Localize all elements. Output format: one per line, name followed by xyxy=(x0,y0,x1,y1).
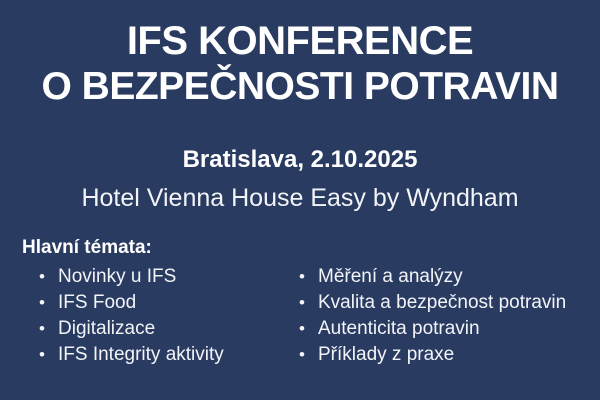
title-line-1: IFS KONFERENCE xyxy=(0,18,600,64)
topic-list-right: • Měření a analýzy • Kvalita a bezpečnos… xyxy=(292,264,582,368)
bullet-icon: • xyxy=(296,316,308,342)
event-venue: Hotel Vienna House Easy by Wyndham xyxy=(0,183,600,214)
topic-list-left: • Novinky u IFS • IFS Food • Digitalizac… xyxy=(32,264,292,368)
list-item: • Novinky u IFS xyxy=(32,264,292,290)
topics-columns: • Novinky u IFS • IFS Food • Digitalizac… xyxy=(22,264,582,368)
bullet-icon: • xyxy=(36,264,48,290)
list-item: • Měření a analýzy xyxy=(292,264,582,290)
list-item-label: Příklady z praxe xyxy=(318,344,454,365)
title-line-2: O BEZPEČNOSTI POTRAVIN xyxy=(0,64,600,110)
bullet-icon: • xyxy=(296,342,308,368)
event-date-location: Bratislava, 2.10.2025 xyxy=(0,145,600,175)
poster-subtitle: Bratislava, 2.10.2025 Hotel Vienna House… xyxy=(0,145,600,214)
list-item-label: Kvalita a bezpečnost potravin xyxy=(318,292,566,313)
bullet-icon: • xyxy=(296,290,308,316)
list-item: • Digitalizace xyxy=(32,316,292,342)
list-item-label: IFS Food xyxy=(58,292,136,313)
list-item-label: Autenticita potravin xyxy=(318,318,480,339)
list-item: • IFS Food xyxy=(32,290,292,316)
bullet-icon: • xyxy=(36,342,48,368)
topics-column-left: • Novinky u IFS • IFS Food • Digitalizac… xyxy=(22,264,292,368)
list-item: • Příklady z praxe xyxy=(292,342,582,368)
bullet-icon: • xyxy=(36,290,48,316)
conference-poster: IFS KONFERENCE O BEZPEČNOSTI POTRAVIN Br… xyxy=(0,0,600,400)
list-item-label: Měření a analýzy xyxy=(318,266,463,287)
poster-title: IFS KONFERENCE O BEZPEČNOSTI POTRAVIN xyxy=(0,18,600,110)
topics-heading: Hlavní témata: xyxy=(22,236,582,260)
list-item-label: IFS Integrity aktivity xyxy=(58,344,224,365)
list-item: • IFS Integrity aktivity xyxy=(32,342,292,368)
bullet-icon: • xyxy=(36,316,48,342)
topics-column-right: • Měření a analýzy • Kvalita a bezpečnos… xyxy=(292,264,582,368)
bullet-icon: • xyxy=(296,264,308,290)
list-item: • Kvalita a bezpečnost potravin xyxy=(292,290,582,316)
topics-section: Hlavní témata: • Novinky u IFS • IFS Foo… xyxy=(22,236,582,368)
list-item-label: Digitalizace xyxy=(58,318,155,339)
list-item: • Autenticita potravin xyxy=(292,316,582,342)
list-item-label: Novinky u IFS xyxy=(58,266,176,287)
